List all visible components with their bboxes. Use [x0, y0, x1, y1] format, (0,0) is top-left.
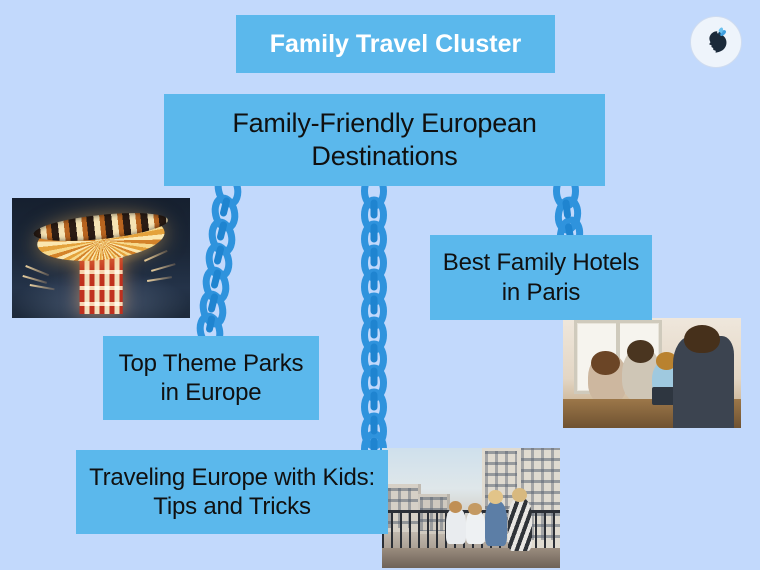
- paris-rooftop-family-photo: [382, 448, 560, 568]
- hotel-reception-family-photo: [563, 318, 741, 428]
- page-title-text: Family Travel Cluster: [236, 29, 555, 60]
- node-hotels-paris[interactable]: Best Family Hotels in Paris: [430, 235, 652, 320]
- woman-profile-butterfly-logo[interactable]: [690, 16, 742, 68]
- node-hotels-paris-label: Best Family Hotels in Paris: [430, 248, 652, 307]
- chain-link-icon-root-to-hotels: [544, 183, 588, 239]
- infographic-canvas: Family Travel Cluster Family-Friendly Eu…: [0, 0, 760, 570]
- node-root-label: Family-Friendly European Destinations: [164, 107, 605, 173]
- chain-link-icon-root-to-theme-parks: [196, 183, 254, 341]
- node-root-pillar[interactable]: Family-Friendly European Destinations: [164, 94, 605, 186]
- node-theme-parks-label: Top Theme Parks in Europe: [103, 349, 319, 408]
- chain-link-icon-root-to-kids-tips: [352, 183, 396, 455]
- woman-profile-butterfly-icon: [699, 25, 733, 59]
- theme-park-carousel-photo: [12, 198, 190, 318]
- node-theme-parks[interactable]: Top Theme Parks in Europe: [103, 336, 319, 420]
- page-title: Family Travel Cluster: [236, 15, 555, 73]
- node-kids-tips[interactable]: Traveling Europe with Kids: Tips and Tri…: [76, 450, 388, 534]
- node-kids-tips-label: Traveling Europe with Kids: Tips and Tri…: [76, 463, 388, 522]
